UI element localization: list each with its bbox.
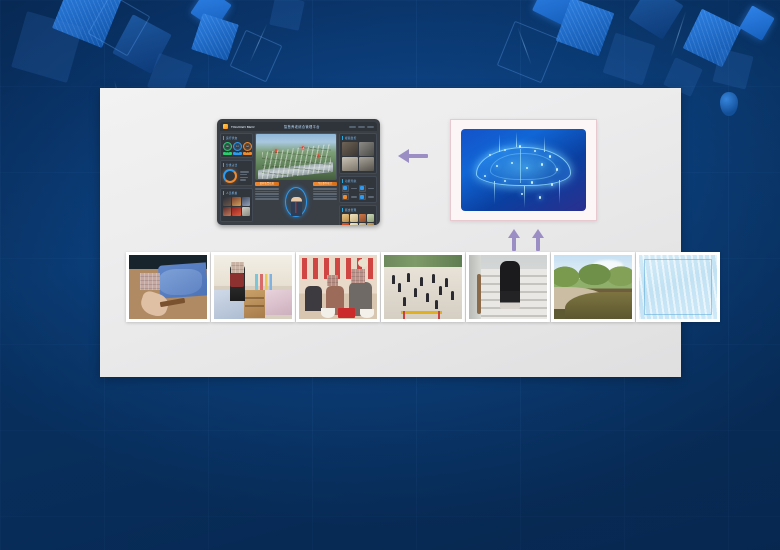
photo-park-river[interactable]: [551, 252, 635, 322]
photo-fall-detection[interactable]: [126, 252, 210, 322]
gauge-online[interactable]: 86 正常: [223, 142, 232, 155]
gauge-online-chip: 正常: [223, 152, 232, 155]
avatar: [291, 197, 302, 216]
capture-thumb-grid[interactable]: [223, 197, 250, 216]
ai-brain-frame[interactable]: [450, 119, 597, 221]
distribution-donut-chart: [223, 169, 237, 183]
arrow-up-shaft: [536, 236, 540, 251]
focus-person-widget: [281, 182, 311, 222]
table-row[interactable]: [313, 188, 337, 190]
bowl-shape: [360, 309, 374, 318]
barrier-shape: [401, 311, 442, 314]
function-icon-grid[interactable]: [342, 185, 374, 200]
campus-3d-view[interactable]: [255, 133, 337, 180]
function-label-resident: [350, 185, 357, 192]
dashboard-body: 运行状态 86 正常 12 提醒 04: [220, 133, 377, 222]
status-gauges: 86 正常 12 提醒 04 紧急: [223, 142, 250, 155]
arrow-left-icon: [398, 149, 428, 163]
smart-monitoring-dashboard[interactable]: TIGUCEN BEIR 智慧养老综合管理平台 运行状态 86: [217, 119, 380, 225]
center-middle-row: 实时告警信息: [255, 182, 337, 222]
vest-shape: [230, 273, 244, 287]
distribution-stat-list: [240, 171, 250, 180]
face-mosaic: [231, 262, 243, 273]
dashboard-topbar: TIGUCEN BEIR 智慧养老综合管理平台: [220, 122, 377, 131]
campus-road: [258, 162, 333, 180]
camera-feed[interactable]: [359, 157, 375, 171]
neuron-dot: [539, 196, 541, 198]
function-label-alarm: [350, 193, 357, 200]
status-gauges-panel: 运行状态 86 正常 12 提醒 04: [220, 133, 253, 158]
function-icon-alarm[interactable]: [342, 193, 349, 200]
list-item[interactable]: [359, 223, 366, 226]
distribution-header: 分类占比: [223, 163, 250, 167]
meal-thumb-grid[interactable]: [342, 214, 374, 225]
photo-activity-room[interactable]: [296, 252, 380, 322]
event-stats-rows: [313, 187, 337, 222]
gauge-warning-value: 12: [233, 142, 242, 151]
lamp-shape: [358, 259, 367, 267]
neuron-dot: [549, 155, 551, 157]
data-ray: [499, 134, 500, 152]
function-icon-resident[interactable]: [342, 185, 349, 192]
arrow-left-shaft: [408, 154, 428, 158]
dashboard-logo-icon: [223, 124, 228, 129]
face-mosaic: [327, 275, 338, 285]
function-nav-panel: 功能导航: [339, 176, 377, 203]
arrow-up-icon-2: [532, 229, 544, 251]
nav-item-monitor-icon[interactable]: [358, 126, 365, 128]
bed-right-shape: [265, 290, 292, 316]
neuron-dot: [519, 145, 521, 147]
list-item: [240, 179, 246, 180]
table-row[interactable]: [313, 198, 337, 200]
dashboard-brand: TIGUCEN BEIR: [231, 125, 255, 129]
face-mosaic: [351, 269, 365, 283]
function-nav-header: 功能导航: [342, 179, 374, 183]
camera-panel: 视频监控: [339, 133, 377, 174]
nav-item-stats-icon[interactable]: [367, 126, 374, 128]
camera-grid[interactable]: [342, 142, 374, 171]
function-label-health: [367, 185, 374, 192]
distribution-content: [223, 169, 250, 183]
list-item: [240, 171, 249, 172]
gauge-warning[interactable]: 12 提醒: [233, 142, 242, 155]
nav-item-home-icon[interactable]: [349, 126, 356, 128]
camera-panel-header: 视频监控: [342, 136, 374, 140]
capture-thumbs-header: 人员抓拍: [223, 191, 250, 195]
alarm-table-rows: [255, 187, 279, 222]
gauge-alarm-chip: 紧急: [243, 152, 252, 155]
photo-image: [214, 255, 292, 319]
photo-plaza-crowd[interactable]: [381, 252, 465, 322]
box-shape: [338, 308, 355, 318]
list-item[interactable]: [342, 223, 349, 226]
camera-feed[interactable]: [342, 157, 358, 171]
photo-bedroom-care[interactable]: [211, 252, 295, 322]
ai-brain-illustration: [461, 129, 586, 211]
list-item[interactable]: [350, 223, 357, 226]
list-item[interactable]: [342, 214, 349, 221]
wall-shape: [214, 255, 292, 286]
table-row[interactable]: [255, 193, 279, 195]
list-item[interactable]: [232, 207, 240, 216]
data-ray: [494, 181, 495, 204]
gauge-alarm[interactable]: 04 紧急: [243, 142, 252, 155]
table-row[interactable]: [255, 191, 279, 193]
slide-root: TIGUCEN BEIR 智慧养老综合管理平台 运行状态 86: [0, 0, 780, 550]
event-stats-table[interactable]: 今日事件统计: [313, 182, 337, 222]
camera-feed[interactable]: [359, 142, 375, 156]
list-item[interactable]: [223, 207, 231, 216]
function-label-device: [367, 193, 374, 200]
person-shape: [500, 261, 520, 308]
photo-stairs-walk[interactable]: [466, 252, 550, 322]
alarm-table-header: 实时告警信息: [255, 182, 279, 186]
map-pin-icon[interactable]: [275, 149, 277, 153]
function-icon-device[interactable]: [359, 193, 366, 200]
list-item[interactable]: [350, 214, 357, 221]
table-row[interactable]: [255, 188, 279, 190]
handrail-shape: [477, 274, 481, 314]
tree-line: [554, 260, 632, 288]
dashboard-nav[interactable]: [349, 126, 374, 128]
bottles-shape: [255, 274, 272, 289]
distribution-panel: 分类占比: [220, 160, 253, 186]
status-gauges-header: 运行状态: [223, 136, 250, 140]
list-item[interactable]: [359, 214, 366, 221]
camera-feed[interactable]: [342, 142, 358, 156]
focus-person-ring: [285, 187, 307, 217]
table-row[interactable]: [255, 198, 279, 200]
data-ray: [559, 180, 560, 205]
map-pin-icon[interactable]: [302, 146, 304, 150]
arrow-up-icon-1: [508, 229, 520, 251]
map-pin-icon[interactable]: [317, 154, 319, 158]
arrow-up-shaft: [512, 236, 516, 251]
alarm-table[interactable]: 实时告警信息: [255, 182, 279, 222]
gauge-warning-chip: 提醒: [233, 152, 242, 155]
photo-image: [639, 255, 717, 319]
table-row[interactable]: [255, 196, 279, 198]
gauge-online-value: 86: [223, 142, 232, 151]
neuron-dot: [504, 149, 506, 151]
table-row[interactable]: [313, 191, 337, 193]
photo-image: [384, 255, 462, 319]
data-ray: [544, 136, 545, 152]
list-item: [240, 177, 248, 178]
neuron-dot: [534, 150, 536, 152]
inner-border: [644, 259, 713, 314]
face-mosaic: [140, 273, 160, 290]
capture-thumbs-panel: 人员抓拍: [220, 188, 253, 222]
list-item: [240, 174, 247, 175]
brain-icon: [476, 147, 571, 186]
list-item[interactable]: [367, 223, 374, 226]
scenario-photo-strip: [126, 252, 720, 322]
table-row[interactable]: [313, 193, 337, 195]
meal-panel-header: 膳食管理: [342, 208, 374, 212]
data-ray: [516, 132, 517, 147]
dashboard-left-panel: 运行状态 86 正常 12 提醒 04: [220, 133, 253, 222]
dashboard-title: 智慧养老综合管理平台: [258, 124, 346, 129]
function-icon-health[interactable]: [359, 185, 366, 192]
gauge-alarm-value: 04: [243, 142, 252, 151]
list-item[interactable]: [232, 197, 240, 206]
list-item[interactable]: [242, 207, 250, 216]
neuron-dot: [489, 154, 491, 156]
photo-abstract-blue[interactable]: [636, 252, 720, 322]
bowl-shape: [321, 308, 335, 318]
list-item[interactable]: [223, 197, 231, 206]
photo-image: [299, 255, 377, 319]
dashboard-right-panel: 视频监控 功能导航: [339, 133, 377, 222]
tree-line: [384, 255, 462, 267]
river-shape: [565, 292, 632, 319]
dashboard-center-panel: 实时告警信息: [255, 133, 337, 222]
data-ray: [524, 186, 525, 207]
person-shape: [305, 286, 322, 312]
event-stats-header: 今日事件统计: [313, 182, 337, 186]
meal-panel: 膳食管理: [339, 205, 377, 225]
table-row[interactable]: [313, 196, 337, 198]
list-item[interactable]: [367, 214, 374, 221]
list-item[interactable]: [242, 197, 250, 206]
photo-image: [554, 255, 632, 319]
cabinet-shape: [244, 290, 266, 318]
content-card: TIGUCEN BEIR 智慧养老综合管理平台 运行状态 86: [100, 88, 681, 377]
person-shape: [159, 269, 203, 295]
photo-image: [129, 255, 207, 319]
photo-image: [469, 255, 547, 319]
